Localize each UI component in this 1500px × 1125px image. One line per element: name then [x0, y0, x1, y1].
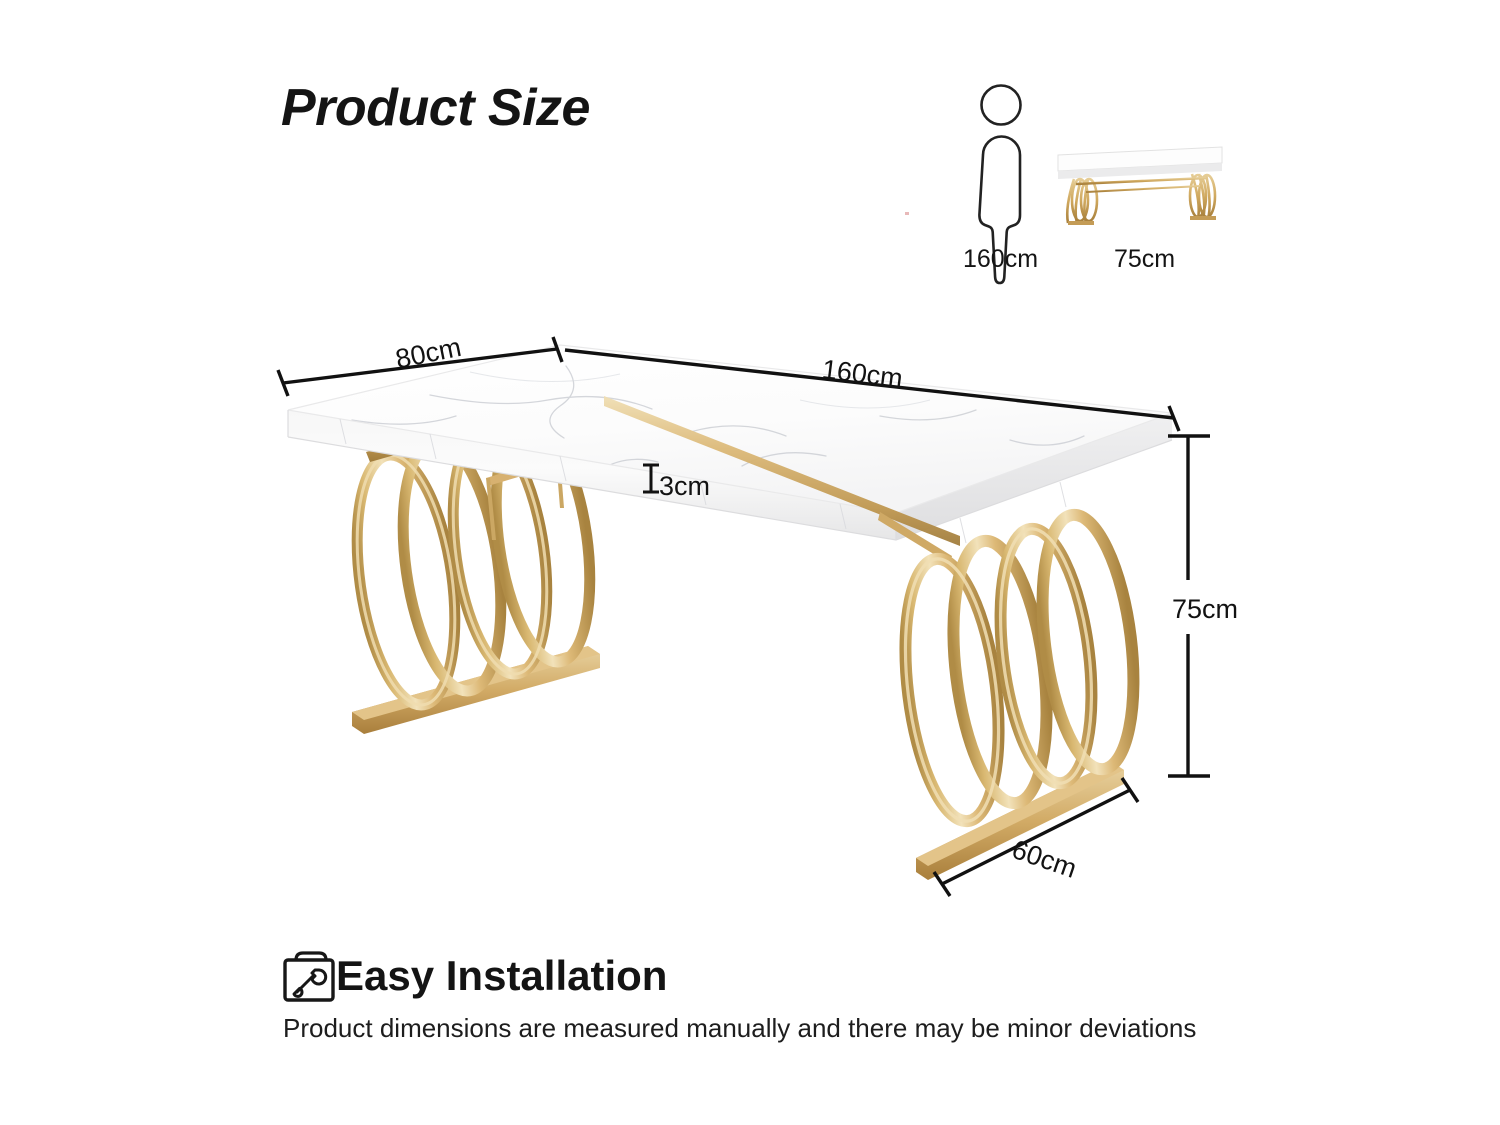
table-front-view-thumbnail [1058, 147, 1222, 225]
product-size-infographic: Product Size 160cm 75cm 80cm 160cm 3cm 7… [0, 0, 1500, 1125]
toolbox-wrench-icon [285, 953, 333, 1000]
infographic-canvas [0, 0, 1500, 1125]
installation-disclaimer: Product dimensions are measured manually… [283, 1013, 1196, 1044]
easy-installation-heading: Easy Installation [336, 952, 667, 1000]
scale-table-caption: 75cm [1114, 245, 1175, 274]
stray-mark [905, 212, 909, 215]
dimension-label-height: 75cm [1172, 594, 1238, 625]
page-title: Product Size [281, 78, 590, 138]
dimension-label-thickness: 3cm [659, 471, 710, 502]
scale-person-caption: 160cm [963, 245, 1038, 274]
table-top [288, 345, 1172, 543]
